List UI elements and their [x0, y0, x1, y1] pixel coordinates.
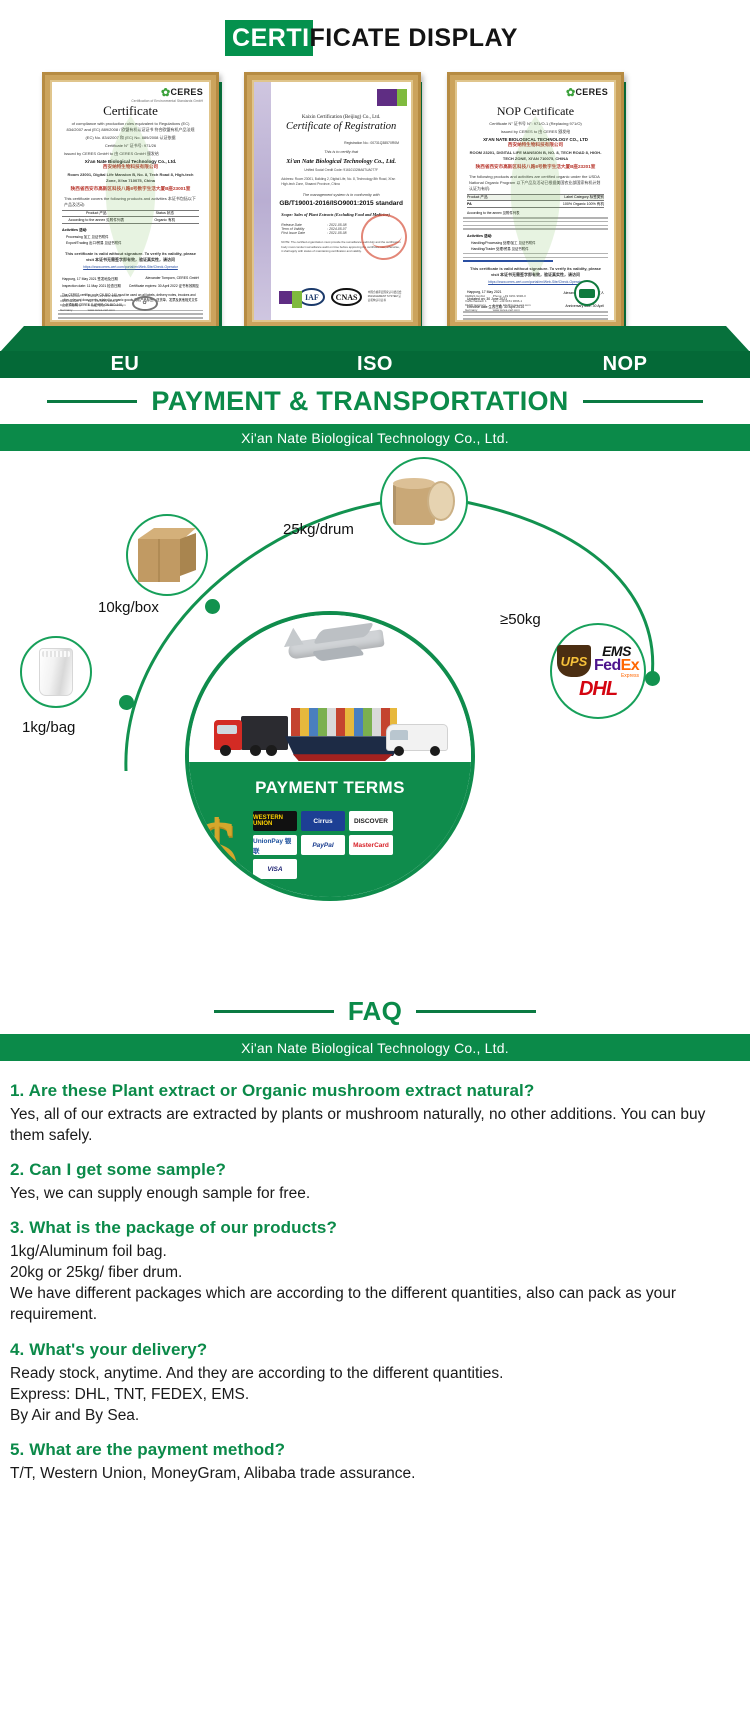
iso-accred-note: 中国合格评定国家认可委员会 MANAGEMENT SYSTEM 认证机构认可证书: [368, 291, 403, 303]
ups-logo-icon: UPS: [557, 645, 591, 677]
cert-number-eu: Certificate N° 证书号: 971/26: [64, 143, 197, 149]
iso-thisis: This is to certify that: [277, 150, 405, 154]
iso-conform: The management system is in conformity w…: [277, 193, 405, 197]
cert-issue-eu: Happurg, 17 May 2021 签发地及日期: [62, 276, 118, 281]
nop-address: ROOM 23201, DIGITAL LIFE MANSION B, NO. …: [469, 150, 602, 162]
payment-logos: WESTERN UNION Cirrus DISCOVER UnionPay 银…: [253, 811, 403, 879]
usda-organic-seal-icon: [574, 280, 600, 306]
cert-verify-url-eu[interactable]: https://www.ceres-cert.com/portal/en/Web…: [64, 265, 197, 270]
certificate-label-nop: NOP: [500, 332, 750, 378]
cert-contact-eu-4: Germany: [60, 308, 82, 313]
ceres-footer-seal-icon: ✿: [132, 296, 158, 311]
nop-activities-title: Activities 活动:: [467, 234, 604, 239]
nop-issued-by: Issued by CERES to 由 CERES 颁发给: [469, 129, 602, 135]
certificate-frame-iso[interactable]: CERTIFICATE OF REGISTRATION Kaixin Certi…: [244, 72, 421, 330]
iso-address: Address: Room 23001, Building 2, Digital…: [281, 177, 401, 187]
cert-contact2-eu-1: Phone: +49 9151 9696-0: [88, 294, 126, 299]
cert-issuedby-eu: Issued by CERES GmbH to 由 CERES GmbH 颁发给: [64, 151, 197, 157]
drum-icon: [393, 475, 455, 527]
certificate-label-iso: ISO: [250, 332, 500, 378]
certificate-document-eu: ✿CERES Certification of Environmental St…: [52, 82, 209, 320]
faq-answer-2: Yes, we can supply enough sample for fre…: [10, 1183, 740, 1204]
faq-list: 1. Are these Plant extract or Organic mu…: [0, 1061, 750, 1484]
faq-question-4: 4. What's your delivery?: [10, 1340, 740, 1360]
iso-heading: Certificate of Registration: [277, 121, 405, 132]
cert-expiry-eu: Certificate expires: 30 April 2022 证书有效期…: [129, 283, 199, 288]
cert-contact2-eu-3: E-mail: info@ceres-cert.com: [88, 303, 126, 308]
nop-company-cn: 西安纳特生物科技有限公司: [463, 142, 608, 148]
nop-contact2-4: www.ceres-cert.com: [493, 308, 531, 313]
payment-transportation-section: PAYMENT & TRANSPORTATION Xi'an Nate Biol…: [0, 378, 750, 988]
payment-terms-panel: PAYMENT TERMS $ WESTERN UNION Cirrus DIS…: [189, 762, 471, 897]
nop-scope-line: The following products and activities ar…: [469, 174, 602, 192]
faq-answer-4: Ready stock, anytime. And they are accor…: [10, 1363, 740, 1426]
transportation-diagram: 1kg/bag 10kg/box 25kg/drum UPS EMS: [0, 451, 750, 971]
faq-question-3: 3. What is the package of our products?: [10, 1218, 740, 1238]
nop-td-label: 100% Organic 100% 有机: [536, 202, 605, 207]
cert-td-product-eu: According to the annex 见附件列表: [62, 218, 131, 223]
nop-contact-4: Germany: [465, 308, 487, 313]
arc-dot-1: [119, 695, 134, 710]
cert-activity-eu-1: Processing 加工 见证书附件: [66, 234, 195, 239]
dhl-logo-icon: DHL: [557, 679, 639, 699]
bag-icon: [39, 648, 73, 696]
kaixin-logo-icon: [377, 89, 397, 106]
truck-icon: [214, 714, 288, 756]
cert-scope-eu: This certificate covers the following pr…: [64, 196, 197, 208]
nop-th-product: Product 产品: [467, 195, 536, 200]
package-label-bag: 1kg/bag: [22, 719, 75, 736]
cert-company-cn-eu: 西安纳特生物科技有限公司: [58, 164, 203, 170]
cert-validity-note-eu: This certificate is valid without signat…: [64, 251, 197, 263]
cert-td-status-eu: Organic 有机: [131, 218, 200, 223]
cert-address-eu: Room 23001, Digital Life Mansion B, No. …: [64, 172, 197, 184]
iso-issuer: Kaixin Certification (Beijing) Co., Ltd.: [277, 115, 405, 120]
discover-logo-icon: DISCOVER: [349, 811, 393, 831]
iso-regno: Registration No.: 00731Q38570R0M: [283, 141, 399, 145]
nop-contact2-3: E-mail: info@ceres-cert.com: [493, 303, 531, 308]
cert-contact2-eu-4: www.ceres-cert.com: [88, 308, 126, 313]
dollar-sign-icon: $: [195, 807, 238, 893]
nop-contact2-1: Phone: +49 9151 9696-0: [493, 294, 531, 299]
cert-th-status-eu: Status 状态: [131, 211, 200, 216]
kaixin-footer-logo-icon: [279, 291, 292, 304]
faq-section-title: FAQ: [348, 996, 402, 1027]
van-icon: [386, 722, 448, 756]
nop-cert-no: Certificate N° 证书号 N°: 971/O-1 (Replacin…: [469, 121, 602, 127]
package-node-bag[interactable]: [20, 636, 92, 708]
nop-th-label: Label Category 标签类别: [536, 195, 605, 200]
faq-company-bar: Xi'an Nate Biological Technology Co., Lt…: [0, 1034, 750, 1061]
cert-signer-eu: Alexander Tomporn, CERES GmbH: [145, 276, 199, 281]
iso-company: Xi'an Nate Biological Technology Co., Lt…: [277, 158, 405, 165]
cnas-logo-icon: CNAS: [331, 288, 361, 306]
title-rest-text: FICATE DISPLAY: [310, 24, 518, 52]
cirrus-logo-icon: Cirrus: [301, 811, 345, 831]
paypal-logo-icon: PayPal: [301, 835, 345, 855]
faq-rule-left: [214, 1010, 334, 1013]
certificate-label-row: EU ISO NOP: [0, 332, 750, 378]
faq-answer-3: 1kg/Aluminum foil bag. 20kg or 25kg/ fib…: [10, 1241, 740, 1325]
transport-imagery: [189, 615, 471, 762]
unionpay-logo-icon: UnionPay 银联: [253, 835, 297, 855]
mastercard-logo-icon: MasterCard: [349, 835, 393, 855]
cert-activities-title-eu: Activities 活动:: [62, 228, 199, 233]
visa-logo-icon: VISA: [253, 859, 297, 879]
iaf-logo-icon: IAF: [298, 288, 325, 306]
iso-red-stamp-icon: [357, 210, 411, 265]
nop-heading: NOP Certificate: [463, 104, 608, 119]
package-node-courier[interactable]: UPS EMS FedEx Express DHL: [550, 623, 646, 719]
payment-terms-label: PAYMENT TERMS: [189, 778, 471, 798]
cert-subheading-eu: of compliance with production rules equi…: [64, 121, 197, 133]
nop-contact-3: 91230 Happurg: [465, 303, 487, 308]
arc-dot-2: [205, 599, 220, 614]
ems-logo-icon: EMS: [594, 644, 639, 658]
faq-section-header: FAQ: [0, 988, 750, 1034]
cert-heading-eu: Certificate: [58, 103, 203, 119]
certificate-frame-eu[interactable]: ✿CERES Certification of Environmental St…: [42, 72, 219, 330]
iso-credit-code: Unified Social Credit Code: 91610132MA6T…: [277, 168, 405, 172]
airplane-icon: [287, 629, 384, 659]
courier-icon: UPS EMS FedEx Express DHL: [557, 644, 639, 699]
nop-activity-1: Handling/Processing 处理/加工 见证书附件: [471, 240, 600, 245]
certificate-frame-nop[interactable]: ✿CERES NOP Certificate Certificate N° 证书…: [447, 72, 624, 330]
nop-validity-note: This certificate is valid without signat…: [469, 266, 602, 278]
cert-contact-eu-1: CERES GmbH: [60, 294, 82, 299]
header-rule-left: [47, 400, 137, 403]
ceres-logo-icon-nop: ✿CERES: [566, 86, 608, 99]
faq-rule-right: [416, 1010, 536, 1013]
cert-th-product-eu: Product 产品: [62, 211, 131, 216]
package-node-drum[interactable]: [380, 457, 468, 545]
iso-standard: GB/T19001-2016/ISO9001:2015 standard: [277, 200, 405, 207]
ceres-logo-icon: ✿CERES Certification of Environmental St…: [131, 86, 203, 103]
fedex-logo-icon: FedEx: [594, 658, 639, 674]
cert-inspection-eu: Inspection date: 11 May 2021 检查日期: [62, 283, 121, 288]
cert-contact-eu-3: 91230 Happurg: [60, 303, 82, 308]
payment-company-bar: Xi'an Nate Biological Technology Co., Lt…: [0, 424, 750, 451]
certificate-display-section: CERTIFICATE DISPLAY ✿CERES Certification…: [0, 0, 750, 378]
package-label-box: 10kg/box: [98, 599, 159, 616]
certificate-section-title: CERTIFICATE DISPLAY: [0, 18, 750, 58]
payment-terms-circle: PAYMENT TERMS $ WESTERN UNION Cirrus DIS…: [185, 611, 475, 901]
payment-section-header: PAYMENT & TRANSPORTATION: [0, 378, 750, 424]
certificate-document-iso: Kaixin Certification (Beijing) Co., Ltd.…: [271, 82, 411, 320]
title-highlight-text: CERTI: [232, 24, 310, 52]
nop-td-product: PA: [467, 202, 536, 207]
nop-contact-1: CERES GmbH: [465, 294, 487, 299]
iso-sidebar-band: CERTIFICATE OF REGISTRATION: [254, 82, 271, 320]
header-rule-right: [583, 400, 703, 403]
cert-activity-eu-2: Export/Trading 出口/贸易 见证书附件: [66, 240, 195, 245]
faq-question-1: 1. Are these Plant extract or Organic mu…: [10, 1081, 740, 1101]
certificate-document-nop: ✿CERES NOP Certificate Certificate N° 证书…: [457, 82, 614, 320]
iso-field-v-3: 2021-05-08: [329, 231, 346, 235]
faq-question-5: 5. What are the payment method?: [10, 1440, 740, 1460]
payment-section-title: PAYMENT & TRANSPORTATION: [151, 386, 568, 417]
cert-address-cn-eu: 陕西省西安市高新区科技八路8号数字生活大厦B座23001室: [58, 186, 203, 192]
package-label-courier: ≥50kg: [500, 611, 541, 628]
nop-annex-line: According to the annex 见附件列表: [467, 210, 604, 215]
faq-answer-5: T/T, Western Union, MoneyGram, Alibaba t…: [10, 1463, 740, 1484]
iso-field-k-3: First Issue Date: [281, 231, 327, 235]
nop-activity-2: Handling/Trader 处理/贸易 见证书附件: [471, 246, 600, 251]
faq-answer-1: Yes, all of our extracts are extracted b…: [10, 1104, 740, 1146]
faq-section: FAQ Xi'an Nate Biological Technology Co.…: [0, 988, 750, 1494]
package-node-box[interactable]: [126, 514, 208, 596]
faq-question-2: 2. Can I get some sample?: [10, 1160, 740, 1180]
arc-dot-3: [645, 671, 660, 686]
cert-regline-eu: (EC) No. 834/2007 和 (EC) No. 889/2008 认证…: [64, 135, 197, 141]
nop-address-cn: 陕西省西安市高新区科技八路8号数字生活大厦B座23201室: [463, 164, 608, 170]
certificate-label-eu: EU: [0, 332, 250, 378]
western-union-logo-icon: WESTERN UNION: [253, 811, 297, 831]
package-label-drum: 25kg/drum: [283, 521, 354, 538]
box-icon: [138, 528, 196, 582]
